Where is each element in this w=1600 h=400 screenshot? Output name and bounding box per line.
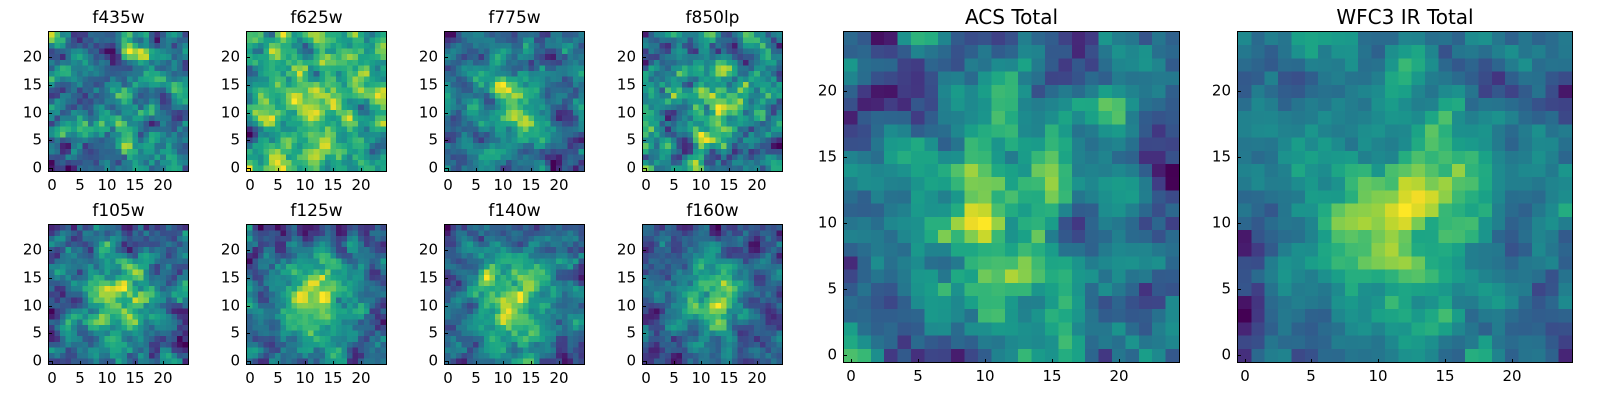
xtick-label-f435w-20: 20 <box>153 178 172 193</box>
ytick-mark <box>444 333 448 334</box>
heatmap-f775w <box>444 31 585 172</box>
ytick-mark <box>1237 289 1241 290</box>
xtick-label-acs-total-5: 5 <box>913 369 923 384</box>
ytick-label-f625w-5: 5 <box>200 133 240 148</box>
heatmap-wfc3-ir-total <box>1237 31 1573 363</box>
ytick-label-f125w-20: 20 <box>200 243 240 258</box>
xtick-mark <box>250 361 251 365</box>
ytick-label-f125w-5: 5 <box>200 326 240 341</box>
xtick-label-f125w-0: 0 <box>245 371 255 386</box>
xtick-mark <box>80 168 81 172</box>
xtick-label-f625w-15: 15 <box>323 178 342 193</box>
heatmap-pixels-f160w <box>643 225 782 364</box>
xtick-label-f435w-10: 10 <box>97 178 116 193</box>
heatmap-f140w <box>444 224 585 365</box>
ytick-label-wfc3-ir-total-20: 20 <box>1191 84 1231 99</box>
ytick-label-f775w-5: 5 <box>398 133 438 148</box>
xtick-mark <box>674 168 675 172</box>
xtick-label-f140w-5: 5 <box>471 371 481 386</box>
xtick-label-f105w-20: 20 <box>153 371 172 386</box>
xtick-mark <box>278 168 279 172</box>
xtick-mark <box>333 168 334 172</box>
xtick-mark <box>646 168 647 172</box>
ytick-label-f435w-10: 10 <box>2 106 42 121</box>
ytick-label-f775w-10: 10 <box>398 106 438 121</box>
xtick-mark <box>305 361 306 365</box>
ytick-mark <box>444 168 448 169</box>
xtick-label-f160w-0: 0 <box>641 371 651 386</box>
xtick-label-f140w-15: 15 <box>521 371 540 386</box>
xtick-mark <box>646 361 647 365</box>
ytick-mark <box>444 250 448 251</box>
ytick-label-f850lp-0: 0 <box>596 161 636 176</box>
ytick-label-f105w-0: 0 <box>2 354 42 369</box>
xtick-label-f125w-10: 10 <box>295 371 314 386</box>
xtick-mark <box>851 359 852 363</box>
ytick-label-f435w-15: 15 <box>2 78 42 93</box>
ytick-mark <box>246 113 250 114</box>
xtick-mark <box>305 168 306 172</box>
ytick-mark <box>843 91 847 92</box>
xtick-label-f775w-0: 0 <box>443 178 453 193</box>
ytick-label-acs-total-10: 10 <box>797 216 837 231</box>
ytick-mark <box>1237 157 1241 158</box>
ytick-label-acs-total-15: 15 <box>797 150 837 165</box>
xtick-label-f850lp-0: 0 <box>641 178 651 193</box>
ytick-label-f775w-0: 0 <box>398 161 438 176</box>
ytick-mark <box>48 361 52 362</box>
ytick-label-f140w-0: 0 <box>398 354 438 369</box>
xtick-mark <box>476 361 477 365</box>
heatmap-pixels-f850lp <box>643 32 782 171</box>
xtick-label-f435w-15: 15 <box>125 178 144 193</box>
ytick-label-f105w-15: 15 <box>2 271 42 286</box>
ytick-mark <box>48 140 52 141</box>
ytick-label-f625w-20: 20 <box>200 50 240 65</box>
ytick-mark <box>642 113 646 114</box>
panel-title-f435w: f435w <box>48 10 189 27</box>
ytick-label-f160w-15: 15 <box>596 271 636 286</box>
ytick-mark <box>444 361 448 362</box>
ytick-mark <box>444 57 448 58</box>
ytick-label-f105w-5: 5 <box>2 326 42 341</box>
panel-title-f105w: f105w <box>48 203 189 220</box>
xtick-mark <box>531 361 532 365</box>
xtick-mark <box>163 361 164 365</box>
xtick-mark <box>757 361 758 365</box>
xtick-mark <box>52 361 53 365</box>
xtick-mark <box>503 361 504 365</box>
ytick-label-f125w-0: 0 <box>200 354 240 369</box>
ytick-mark <box>246 278 250 279</box>
ytick-mark <box>843 223 847 224</box>
xtick-label-acs-total-10: 10 <box>975 369 994 384</box>
panel-title-f125w: f125w <box>246 203 387 220</box>
ytick-mark <box>246 168 250 169</box>
xtick-label-wfc3-ir-total-10: 10 <box>1368 369 1387 384</box>
ytick-label-wfc3-ir-total-15: 15 <box>1191 150 1231 165</box>
xtick-label-f160w-15: 15 <box>719 371 738 386</box>
xtick-label-f625w-5: 5 <box>273 178 283 193</box>
heatmap-pixels-f140w <box>445 225 584 364</box>
ytick-mark <box>48 250 52 251</box>
xtick-label-f775w-10: 10 <box>493 178 512 193</box>
ytick-label-f140w-15: 15 <box>398 271 438 286</box>
heatmap-f625w <box>246 31 387 172</box>
xtick-label-f105w-10: 10 <box>97 371 116 386</box>
ytick-label-f160w-5: 5 <box>596 326 636 341</box>
xtick-label-wfc3-ir-total-0: 0 <box>1240 369 1250 384</box>
xtick-label-wfc3-ir-total-15: 15 <box>1435 369 1454 384</box>
xtick-mark <box>918 359 919 363</box>
xtick-mark <box>361 168 362 172</box>
xtick-label-f435w-0: 0 <box>47 178 57 193</box>
xtick-mark <box>135 168 136 172</box>
ytick-label-f140w-20: 20 <box>398 243 438 258</box>
ytick-label-acs-total-20: 20 <box>797 84 837 99</box>
xtick-label-f775w-15: 15 <box>521 178 540 193</box>
xtick-mark <box>701 361 702 365</box>
ytick-label-f125w-15: 15 <box>200 271 240 286</box>
xtick-mark <box>80 361 81 365</box>
ytick-label-f435w-0: 0 <box>2 161 42 176</box>
ytick-mark <box>444 278 448 279</box>
ytick-mark <box>642 57 646 58</box>
ytick-label-f625w-0: 0 <box>200 161 240 176</box>
ytick-mark <box>48 333 52 334</box>
xtick-mark <box>250 168 251 172</box>
ytick-mark <box>48 113 52 114</box>
ytick-label-f435w-5: 5 <box>2 133 42 148</box>
panel-title-acs-total: ACS Total <box>843 7 1180 27</box>
ytick-mark <box>642 85 646 86</box>
xtick-mark <box>503 168 504 172</box>
xtick-label-f775w-5: 5 <box>471 178 481 193</box>
ytick-mark <box>48 85 52 86</box>
ytick-label-f850lp-20: 20 <box>596 50 636 65</box>
panel-title-f625w: f625w <box>246 10 387 27</box>
xtick-mark <box>1378 359 1379 363</box>
figure-canvas: f435w0510152005101520f625w05101520051015… <box>0 0 1600 400</box>
xtick-mark <box>52 168 53 172</box>
heatmap-pixels-f435w <box>49 32 188 171</box>
xtick-mark <box>1512 359 1513 363</box>
xtick-mark <box>1119 359 1120 363</box>
ytick-mark <box>642 278 646 279</box>
xtick-mark <box>163 168 164 172</box>
ytick-mark <box>48 306 52 307</box>
ytick-mark <box>642 140 646 141</box>
heatmap-pixels-acs-total <box>844 32 1179 362</box>
ytick-label-f435w-20: 20 <box>2 50 42 65</box>
heatmap-pixels-f625w <box>247 32 386 171</box>
xtick-mark <box>1052 359 1053 363</box>
xtick-label-f850lp-20: 20 <box>747 178 766 193</box>
ytick-mark <box>246 361 250 362</box>
xtick-label-f140w-10: 10 <box>493 371 512 386</box>
xtick-mark <box>107 361 108 365</box>
ytick-mark <box>642 250 646 251</box>
ytick-label-f850lp-10: 10 <box>596 106 636 121</box>
xtick-mark <box>361 361 362 365</box>
xtick-label-wfc3-ir-total-20: 20 <box>1502 369 1521 384</box>
xtick-label-f435w-5: 5 <box>75 178 85 193</box>
xtick-label-acs-total-0: 0 <box>846 369 856 384</box>
ytick-label-f140w-5: 5 <box>398 326 438 341</box>
heatmap-f105w <box>48 224 189 365</box>
ytick-label-f105w-20: 20 <box>2 243 42 258</box>
xtick-mark <box>448 361 449 365</box>
ytick-mark <box>843 355 847 356</box>
ytick-mark <box>1237 91 1241 92</box>
panel-title-f160w: f160w <box>642 203 783 220</box>
xtick-mark <box>107 168 108 172</box>
ytick-label-acs-total-0: 0 <box>797 348 837 363</box>
heatmap-pixels-f775w <box>445 32 584 171</box>
ytick-label-f850lp-5: 5 <box>596 133 636 148</box>
xtick-mark <box>701 168 702 172</box>
heatmap-pixels-f125w <box>247 225 386 364</box>
ytick-mark <box>642 361 646 362</box>
xtick-label-wfc3-ir-total-5: 5 <box>1306 369 1316 384</box>
ytick-mark <box>48 57 52 58</box>
ytick-mark <box>444 113 448 114</box>
xtick-label-acs-total-20: 20 <box>1109 369 1128 384</box>
heatmap-f850lp <box>642 31 783 172</box>
xtick-label-f140w-20: 20 <box>549 371 568 386</box>
xtick-label-f105w-0: 0 <box>47 371 57 386</box>
xtick-label-f775w-20: 20 <box>549 178 568 193</box>
ytick-mark <box>1237 223 1241 224</box>
ytick-label-f140w-10: 10 <box>398 299 438 314</box>
ytick-mark <box>444 140 448 141</box>
ytick-mark <box>843 289 847 290</box>
panel-title-wfc3-ir-total: WFC3 IR Total <box>1237 7 1573 27</box>
ytick-label-f160w-20: 20 <box>596 243 636 258</box>
xtick-label-f625w-20: 20 <box>351 178 370 193</box>
ytick-mark <box>246 57 250 58</box>
ytick-label-f105w-10: 10 <box>2 299 42 314</box>
ytick-mark <box>444 306 448 307</box>
xtick-label-f105w-15: 15 <box>125 371 144 386</box>
xtick-mark <box>559 361 560 365</box>
xtick-mark <box>531 168 532 172</box>
ytick-mark <box>246 333 250 334</box>
ytick-mark <box>246 306 250 307</box>
ytick-label-f125w-10: 10 <box>200 299 240 314</box>
xtick-mark <box>278 361 279 365</box>
xtick-label-f125w-20: 20 <box>351 371 370 386</box>
xtick-label-f160w-5: 5 <box>669 371 679 386</box>
ytick-label-f625w-10: 10 <box>200 106 240 121</box>
heatmap-pixels-f105w <box>49 225 188 364</box>
ytick-label-f775w-20: 20 <box>398 50 438 65</box>
xtick-mark <box>985 359 986 363</box>
ytick-label-f625w-15: 15 <box>200 78 240 93</box>
xtick-label-f125w-15: 15 <box>323 371 342 386</box>
xtick-label-f625w-10: 10 <box>295 178 314 193</box>
xtick-label-f140w-0: 0 <box>443 371 453 386</box>
xtick-label-f160w-20: 20 <box>747 371 766 386</box>
ytick-label-f160w-0: 0 <box>596 354 636 369</box>
xtick-label-f160w-10: 10 <box>691 371 710 386</box>
ytick-label-wfc3-ir-total-10: 10 <box>1191 216 1231 231</box>
ytick-mark <box>246 85 250 86</box>
xtick-mark <box>135 361 136 365</box>
heatmap-pixels-wfc3-ir-total <box>1238 32 1572 362</box>
xtick-mark <box>1245 359 1246 363</box>
xtick-label-acs-total-15: 15 <box>1042 369 1061 384</box>
ytick-mark <box>444 85 448 86</box>
heatmap-acs-total <box>843 31 1180 363</box>
xtick-mark <box>674 361 675 365</box>
heatmap-f125w <box>246 224 387 365</box>
xtick-mark <box>1445 359 1446 363</box>
xtick-mark <box>559 168 560 172</box>
xtick-mark <box>729 361 730 365</box>
ytick-mark <box>843 157 847 158</box>
ytick-mark <box>1237 355 1241 356</box>
xtick-label-f850lp-15: 15 <box>719 178 738 193</box>
ytick-label-acs-total-5: 5 <box>797 282 837 297</box>
panel-title-f850lp: f850lp <box>642 10 783 27</box>
xtick-label-f125w-5: 5 <box>273 371 283 386</box>
xtick-label-f625w-0: 0 <box>245 178 255 193</box>
ytick-mark <box>642 333 646 334</box>
xtick-mark <box>476 168 477 172</box>
ytick-label-f850lp-15: 15 <box>596 78 636 93</box>
ytick-label-f775w-15: 15 <box>398 78 438 93</box>
xtick-mark <box>1311 359 1312 363</box>
panel-title-f775w: f775w <box>444 10 585 27</box>
ytick-mark <box>642 306 646 307</box>
xtick-label-f850lp-10: 10 <box>691 178 710 193</box>
ytick-mark <box>246 250 250 251</box>
ytick-label-wfc3-ir-total-5: 5 <box>1191 282 1231 297</box>
xtick-label-f105w-5: 5 <box>75 371 85 386</box>
ytick-label-wfc3-ir-total-0: 0 <box>1191 348 1231 363</box>
xtick-mark <box>757 168 758 172</box>
xtick-mark <box>448 168 449 172</box>
ytick-label-f160w-10: 10 <box>596 299 636 314</box>
xtick-mark <box>333 361 334 365</box>
xtick-label-f850lp-5: 5 <box>669 178 679 193</box>
heatmap-f435w <box>48 31 189 172</box>
heatmap-f160w <box>642 224 783 365</box>
ytick-mark <box>642 168 646 169</box>
panel-title-f140w: f140w <box>444 203 585 220</box>
ytick-mark <box>48 168 52 169</box>
ytick-mark <box>48 278 52 279</box>
ytick-mark <box>246 140 250 141</box>
xtick-mark <box>729 168 730 172</box>
